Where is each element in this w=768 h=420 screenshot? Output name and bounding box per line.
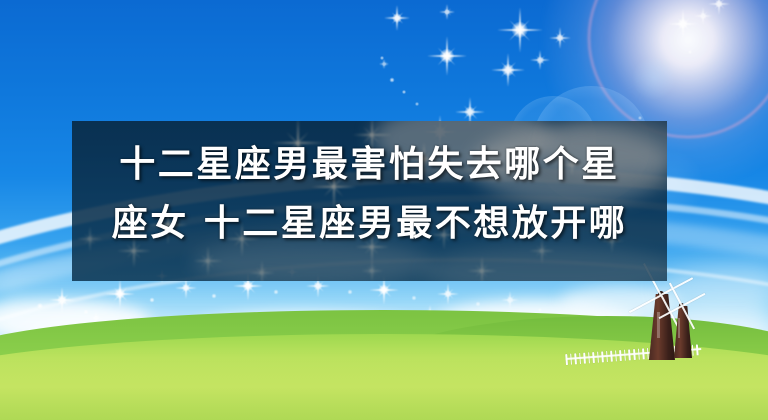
sparkle-dot-icon: [212, 294, 217, 299]
sparkle-dot-icon: [150, 298, 155, 303]
sparkle-dot-icon: [688, 50, 692, 54]
caption-overlay-band: 十二星座男最害怕失去哪个星 座女 十二星座男最不想放开哪: [72, 121, 667, 281]
sparkle-dot-icon: [402, 90, 406, 94]
sparkle-dot-icon: [390, 78, 395, 83]
grass-shading: [0, 350, 768, 420]
windmill-small: [665, 300, 701, 358]
sparkle-dot-icon: [37, 303, 43, 309]
sparkle-dot-icon: [348, 290, 353, 295]
sparkle-dot-icon: [84, 310, 89, 315]
sparkle-dot-icon: [380, 56, 384, 60]
caption-text: 十二星座男最害怕失去哪个星 座女 十二星座男最不想放开哪: [72, 135, 667, 253]
sparkle-dot-icon: [412, 296, 417, 301]
sparkle-dot-icon: [274, 290, 279, 295]
banner-image: 十二星座男最害怕失去哪个星 座女 十二星座男最不想放开哪: [0, 0, 768, 420]
sparkle-dot-icon: [415, 102, 419, 106]
sparkle-dot-icon: [476, 302, 481, 307]
sparkle-dot-icon: [638, 116, 642, 120]
sparkle-dot-icon: [538, 308, 542, 312]
